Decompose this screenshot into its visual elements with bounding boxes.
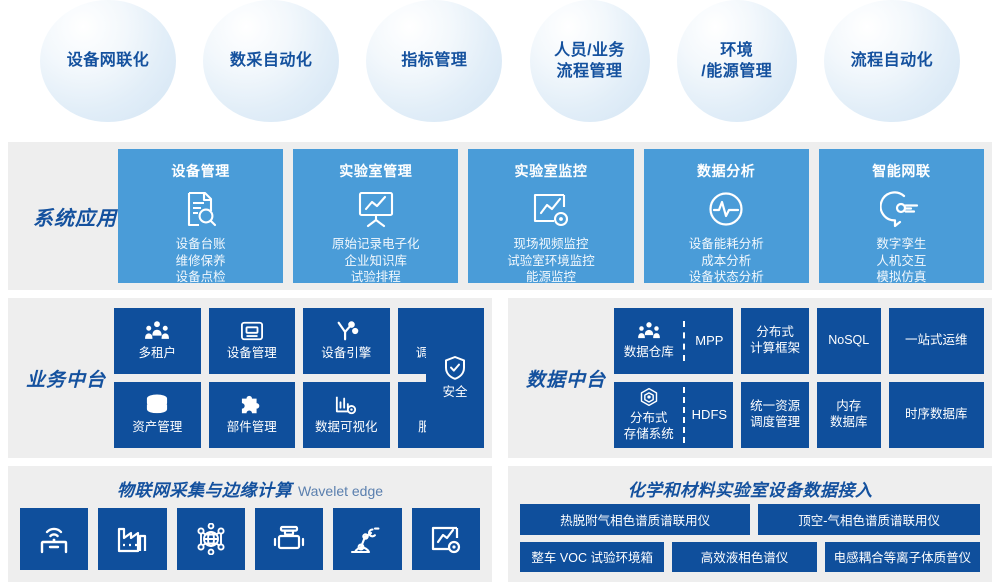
system-card-intelligent-network[interactable]: 智能网联 数字孪生人机交互模拟仿真 [819,149,984,283]
shield-check-icon [443,355,467,381]
lab-chip-icp-ms[interactable]: 电感耦合等离子体质普仪 [825,542,980,573]
system-card-device-management[interactable]: 设备管理 设备台账维修保养设备点检 [118,149,283,283]
database-coins-icon [144,394,170,416]
iot-tile-monitor-chart[interactable] [412,508,480,570]
lab-chip-hs-gcms[interactable]: 顶空-气相色谱质谱联用仪 [758,504,980,535]
card-lines: 设备能耗分析成本分析设备状态分析 [689,236,764,286]
lab-data-access-panel: 化学和材料实验室设备数据接入 热脱附气相色谱质谱联用仪 顶空-气相色谱质谱联用仪… [508,466,992,582]
data-cell-storage-hdfs[interactable]: 分布式存储系统 HDFS [614,382,733,448]
capability-ellipse-4[interactable]: 人员/业务流程管理 [530,0,650,122]
business-col-1: 多租户 资产管理 [114,308,201,448]
lab-chip-voc-chamber[interactable]: 整车 VOC 试验环境箱 [520,542,664,573]
robot-arm-icon [350,523,384,555]
business-cell-device-engine[interactable]: 设备引擎 [303,308,390,374]
pulse-circle-icon [706,189,746,229]
presentation-chart-icon [355,189,397,229]
data-cell-warehouse-mpp[interactable]: 数据仓库 MPP [614,308,733,374]
system-card-lab-management[interactable]: 实验室管理 原始记录电子化企业知识库试验排程 [293,149,458,283]
data-cell-warehouse: 数据仓库 [614,321,685,361]
data-cell-hdfs-label: HDFS [685,407,733,423]
iot-tiles [20,508,480,570]
system-applications-panel: 系统应用 设备管理 设备台账维修保养设备点检 实验室管理 [8,142,992,290]
cell-label: 分布式存储系统 [624,411,674,442]
data-col-3: NoSQL 内存数据库 [817,308,881,448]
data-col-2: 分布式计算框架 统一资源调度管理 [741,308,809,448]
capability-label: 指标管理 [401,50,467,71]
puzzle-piece-icon [240,394,264,416]
document-search-icon [181,189,221,229]
card-title: 智能网联 [872,161,930,181]
iot-tile-wifi-gateway[interactable] [20,508,88,570]
cell-label: 安全 [442,385,467,401]
data-cell-mpp-label: MPP [685,333,733,349]
card-title: 实验室管理 [339,161,412,181]
data-cell-storage: 分布式存储系统 [614,387,685,442]
business-platform-title: 业务中台 [18,298,114,458]
card-lines: 现场视频监控试验室环境监控能源监控 [507,236,595,286]
iot-edge-header: 物联网采集与边缘计算Wavelet edge [8,466,492,501]
capability-ellipse-6[interactable]: 流程自动化 [824,0,960,122]
card-lines: 原始记录电子化企业知识库试验排程 [332,236,420,286]
cell-label: 设备管理 [227,346,277,362]
business-cell-device-management[interactable]: 设备管理 [209,308,296,374]
architecture-diagram: 设备网联化 数采自动化 指标管理 人员/业务流程管理 环境/能源管理 流程自动化… [0,0,1000,588]
capability-label: 数采自动化 [230,50,313,71]
capability-ellipse-3[interactable]: 指标管理 [366,0,502,122]
capability-ellipse-5[interactable]: 环境/能源管理 [677,0,797,122]
capability-label: 流程自动化 [851,50,934,71]
monitor-chart-icon [530,189,572,229]
cell-label: 数据可视化 [315,420,378,436]
business-platform-panel: 业务中台 多租户 [8,298,492,458]
business-col-2: 设备管理 部件管理 [209,308,296,448]
data-cell-dist-compute[interactable]: 分布式计算框架 [741,308,809,374]
capability-ellipse-row: 设备网联化 数采自动化 指标管理 人员/业务流程管理 环境/能源管理 流程自动化 [0,0,1000,134]
factory-icon [115,523,149,555]
business-cell-asset-management[interactable]: 资产管理 [114,382,201,448]
data-cell-memory-db[interactable]: 内存数据库 [817,382,881,448]
data-platform-title: 数据中台 [518,298,614,458]
iot-edge-title: 物联网采集与边缘计算 [117,481,292,500]
lab-chip-row-2: 整车 VOC 试验环境箱 高效液相色谱仪 电感耦合等离子体质普仪 [520,542,980,573]
data-platform-grid: 数据仓库 MPP 分布式存储系统 [614,308,984,448]
data-col-1: 数据仓库 MPP 分布式存储系统 [614,308,733,448]
card-lines: 数字孪生人机交互模拟仿真 [876,236,926,286]
system-applications-title: 系统应用 [24,142,126,290]
iot-tile-robot-arm[interactable] [333,508,401,570]
wifi-gateway-icon [37,523,71,555]
lab-chip-hplc[interactable]: 高效液相色谱仪 [672,542,816,573]
node-branch-icon [333,320,359,342]
card-title: 设备管理 [171,161,229,181]
data-cell-nosql[interactable]: NoSQL [817,308,881,374]
card-lines: 设备台账维修保养设备点检 [176,236,226,286]
business-cell-component-management[interactable]: 部件管理 [209,382,296,448]
lab-data-access-title: 化学和材料实验室设备数据接入 [508,466,992,501]
capability-label: 环境/能源管理 [701,40,772,82]
multi-tenant-icon [637,321,661,341]
system-card-data-analysis[interactable]: 数据分析 设备能耗分析成本分析设备状态分析 [644,149,809,283]
iot-edge-panel: 物联网采集与边缘计算Wavelet edge [8,466,492,582]
data-platform-panel: 数据中台 数据仓库 MPP [508,298,992,458]
bar-chart-view-icon [334,394,358,416]
business-cell-security[interactable]: 安全 [426,308,484,448]
cell-label: 部件管理 [227,420,277,436]
capability-ellipse-1[interactable]: 设备网联化 [40,0,176,122]
card-title: 数据分析 [697,161,755,181]
machine-valve-icon [272,523,306,555]
system-applications-cards: 设备管理 设备台账维修保养设备点检 实验室管理 [118,149,984,283]
card-title: 实验室监控 [515,161,588,181]
iot-tile-network-globe[interactable] [177,508,245,570]
capability-label: 人员/业务流程管理 [554,40,625,82]
monitor-chart-icon [429,523,463,555]
ai-head-icon [880,189,922,229]
iot-edge-subtitle: Wavelet edge [298,483,383,499]
data-col-4: 一站式运维 时序数据库 [889,308,984,448]
cube-network-icon [638,387,660,407]
lab-chip-td-gcms[interactable]: 热脱附气相色谱质谱联用仪 [520,504,750,535]
network-globe-icon [194,523,228,555]
iot-tile-factory[interactable] [98,508,166,570]
multi-tenant-icon [144,320,170,342]
system-card-lab-monitoring[interactable]: 实验室监控 现场视频监控试验室环境监控能源监控 [468,149,633,283]
cell-label: 设备引擎 [321,346,371,362]
data-cell-one-stop-ops[interactable]: 一站式运维 [889,308,984,374]
lab-chip-row-1: 热脱附气相色谱质谱联用仪 顶空-气相色谱质谱联用仪 [520,504,980,535]
capability-ellipse-2[interactable]: 数采自动化 [203,0,339,122]
capability-label: 设备网联化 [67,50,150,71]
data-cell-resource-schedule[interactable]: 统一资源调度管理 [741,382,809,448]
cell-label: 数据仓库 [624,345,674,361]
business-col-3: 设备引擎 数据可视化 [303,308,390,448]
iot-tile-machine-valve[interactable] [255,508,323,570]
cell-label: 多租户 [138,346,176,362]
business-cell-data-visualization[interactable]: 数据可视化 [303,382,390,448]
lab-chip-rows: 热脱附气相色谱质谱联用仪 顶空-气相色谱质谱联用仪 整车 VOC 试验环境箱 高… [520,504,980,572]
data-cell-timeseries-db[interactable]: 时序数据库 [889,382,984,448]
business-cell-multi-tenant[interactable]: 多租户 [114,308,201,374]
device-box-icon [240,320,264,342]
cell-label: 资产管理 [132,420,182,436]
